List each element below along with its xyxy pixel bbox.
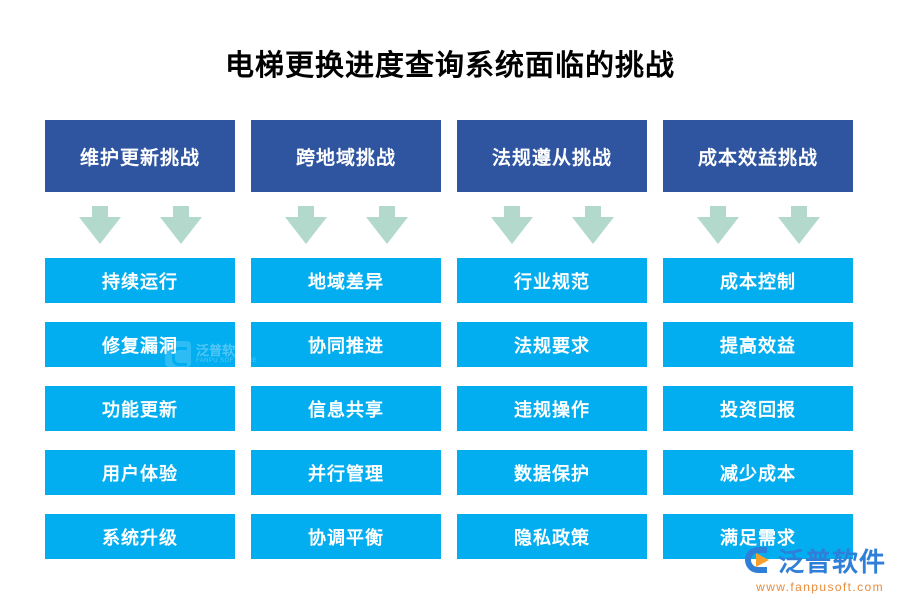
challenge-item: 提高效益 [663,322,853,367]
down-arrow-icon [572,206,614,244]
challenge-column-3: 法规遵从挑战 行业规范 法规要求 违规操作 数据保护 隐私政策 [457,120,647,559]
challenge-item: 用户体验 [45,450,235,495]
infographic-canvas: 电梯更换进度查询系统面临的挑战 维护更新挑战 持续运行 修复漏洞 功能更新 用户… [0,0,900,600]
arrow-head [285,217,327,244]
arrow-row-1 [45,192,235,258]
arrow-stem [791,206,807,217]
column-header-2: 跨地域挑战 [251,120,441,192]
challenge-item: 修复漏洞 [45,322,235,367]
arrow-row-2 [251,192,441,258]
arrow-row-4 [663,192,853,258]
challenge-item: 成本控制 [663,258,853,303]
down-arrow-icon [79,206,121,244]
arrow-stem [585,206,601,217]
brand-name: 泛普软件 [778,542,886,579]
challenge-item: 协调平衡 [251,514,441,559]
challenge-item: 投资回报 [663,386,853,431]
challenge-item: 功能更新 [45,386,235,431]
arrow-head [778,217,820,244]
challenge-item: 系统升级 [45,514,235,559]
challenge-column-4: 成本效益挑战 成本控制 提高效益 投资回报 减少成本 满足需求 [663,120,853,559]
down-arrow-icon [491,206,533,244]
column-header-1: 维护更新挑战 [45,120,235,192]
challenge-item: 持续运行 [45,258,235,303]
brand-url: www.fanpusoft.com [756,580,884,594]
challenge-column-1: 维护更新挑战 持续运行 修复漏洞 功能更新 用户体验 系统升级 [45,120,235,559]
challenge-column-2: 跨地域挑战 地域差异 协同推进 信息共享 并行管理 协调平衡 [251,120,441,559]
challenge-item: 隐私政策 [457,514,647,559]
arrow-stem [504,206,520,217]
arrow-head [572,217,614,244]
challenge-item: 减少成本 [663,450,853,495]
arrow-head [491,217,533,244]
arrow-head [366,217,408,244]
down-arrow-icon [366,206,408,244]
arrow-stem [92,206,108,217]
arrow-stem [298,206,314,217]
down-arrow-icon [778,206,820,244]
down-arrow-icon [697,206,739,244]
arrow-stem [710,206,726,217]
challenge-item: 数据保护 [457,450,647,495]
down-arrow-icon [160,206,202,244]
arrow-head [697,217,739,244]
brand-row: 泛普软件 [744,542,886,579]
challenge-item: 行业规范 [457,258,647,303]
challenge-item: 地域差异 [251,258,441,303]
logo-swoosh [756,553,769,567]
arrow-row-3 [457,192,647,258]
brand-logo: 泛普软件 www.fanpusoft.com [744,542,886,594]
column-header-4: 成本效益挑战 [663,120,853,192]
challenge-item: 违规操作 [457,386,647,431]
challenge-item: 信息共享 [251,386,441,431]
page-title: 电梯更换进度查询系统面临的挑战 [0,46,900,86]
fanpu-logo-icon [744,546,774,576]
arrow-stem [173,206,189,217]
column-header-3: 法规遵从挑战 [457,120,647,192]
arrow-head [160,217,202,244]
challenge-columns: 维护更新挑战 持续运行 修复漏洞 功能更新 用户体验 系统升级 跨地域挑战 [45,120,853,559]
down-arrow-icon [285,206,327,244]
arrow-head [79,217,121,244]
challenge-item: 协同推进 [251,322,441,367]
challenge-item: 法规要求 [457,322,647,367]
arrow-stem [379,206,395,217]
challenge-item: 并行管理 [251,450,441,495]
